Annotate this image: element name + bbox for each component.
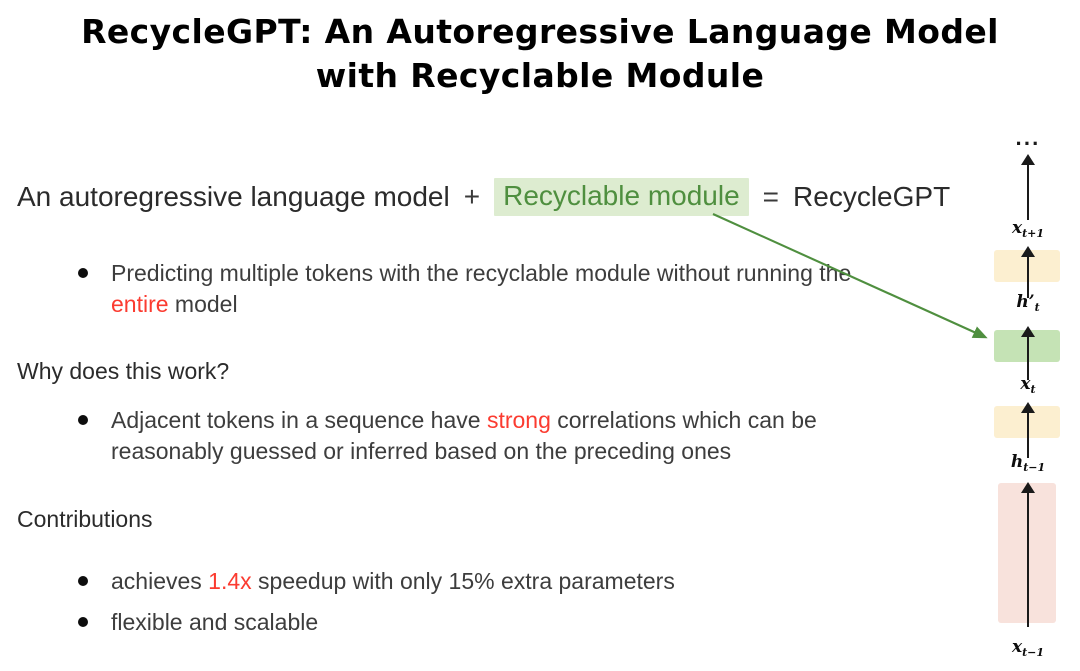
plus-sign: + [464,183,480,211]
bullet-2-text-before: Adjacent tokens in a sequence have [111,407,487,433]
page-title: RecycleGPT: An Autoregressive Language M… [60,10,1020,98]
arrow-head-icon [1021,246,1035,257]
arrow-head-icon [1021,402,1035,413]
arrow-shaft [1027,164,1029,220]
label-x-t-minus-1: xt−1 [978,637,1078,657]
arrow-head-icon [1021,154,1035,165]
recyclegpt-architecture-diagram: ··· xt+1 h’t xt ht−1 xt−1 [978,132,1078,671]
bullet-dot-icon [78,617,88,627]
bullet-1-emphasis: entire [111,291,169,317]
heading-why-does-this-work: Why does this work? [17,357,229,386]
bullet-dot-icon [78,415,88,425]
title-line-1: RecycleGPT: An Autoregressive Language M… [60,10,1020,54]
bullet-3-text-after: speedup with only 15% extra parameters [252,568,675,594]
list-item: Adjacent tokens in a sequence have stron… [78,405,901,466]
bullet-2-text: Adjacent tokens in a sequence have stron… [111,405,901,466]
bullet-dot-icon [78,576,88,586]
slide-canvas: RecycleGPT: An Autoregressive Language M… [0,0,1080,671]
bullet-1-text-after: model [169,291,238,317]
equals-sign: = [763,183,779,211]
bullet-3-text: achieves 1.4x speedup with only 15% extr… [111,566,675,597]
bullet-1-text: Predicting multiple tokens with the recy… [111,258,901,319]
ellipsis-label: ··· [978,140,1078,149]
bullet-dot-icon [78,268,88,278]
heading-contributions: Contributions [17,505,153,534]
equation-line: An autoregressive language model + Recyc… [17,178,950,216]
equation-left-term: An autoregressive language model [17,183,450,211]
equation-right-term: RecycleGPT [793,183,950,211]
list-item: achieves 1.4x speedup with only 15% extr… [78,566,675,597]
bullet-3-emphasis: 1.4x [208,568,251,594]
bullet-4-text: flexible and scalable [111,607,318,638]
bullet-2-emphasis: strong [487,407,551,433]
label-x-t-plus-1: xt+1 [978,218,1078,238]
label-x-t: xt [978,374,1078,394]
list-item: Predicting multiple tokens with the recy… [78,258,901,319]
arrow-shaft [1027,492,1029,627]
arrow-head-icon [1021,326,1035,337]
bullet-3-text-before: achieves [111,568,208,594]
recyclable-module-highlight: Recyclable module [494,178,749,216]
arrow-head-icon [1021,482,1035,493]
title-line-2: with Recyclable Module [60,54,1020,98]
bullet-1-text-before: Predicting multiple tokens with the recy… [111,260,851,286]
list-item: flexible and scalable [78,607,318,638]
label-h-t-minus-1: ht−1 [978,452,1078,472]
label-h-prime-t: h’t [978,292,1078,312]
